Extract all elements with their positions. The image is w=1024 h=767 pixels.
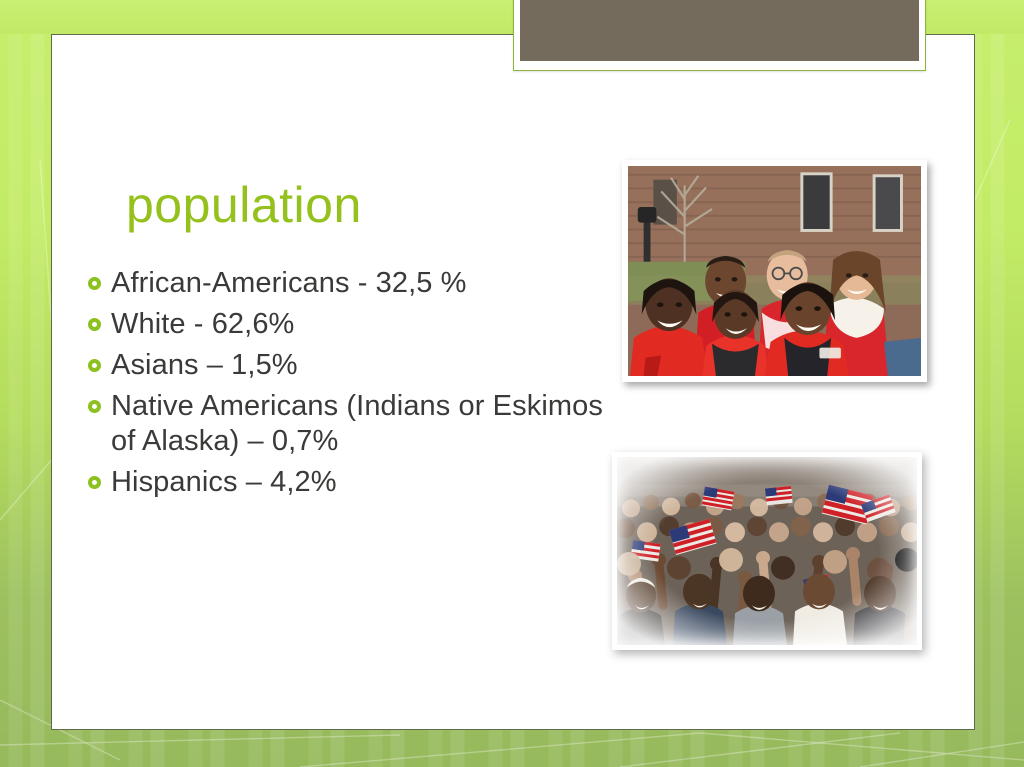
list-item: Native Americans (Indians or Eskimos of … bbox=[88, 389, 608, 459]
header-plaque-fill bbox=[520, 0, 919, 61]
ring-bullet-icon bbox=[88, 277, 101, 290]
bullet-text: White - 62,6% bbox=[111, 307, 608, 342]
students-group-photo-canvas bbox=[628, 166, 921, 376]
students-group-photo bbox=[622, 160, 927, 382]
bullet-text: African-Americans - 32,5 % bbox=[111, 266, 608, 301]
slide-title: population bbox=[126, 176, 586, 234]
presentation-slide: population African-Americans - 32,5 % Wh… bbox=[0, 0, 1024, 767]
crowd-with-flags-photo bbox=[612, 452, 922, 650]
list-item: African-Americans - 32,5 % bbox=[88, 266, 608, 301]
list-item: Hispanics – 4,2% bbox=[88, 465, 608, 500]
crowd-with-flags-photo-canvas bbox=[617, 457, 917, 645]
ring-bullet-icon bbox=[88, 359, 101, 372]
ring-bullet-icon bbox=[88, 318, 101, 331]
list-item: White - 62,6% bbox=[88, 307, 608, 342]
bullet-text: Asians – 1,5% bbox=[111, 348, 608, 383]
ring-bullet-icon bbox=[88, 400, 101, 413]
bullet-text: Native Americans (Indians or Eskimos of … bbox=[111, 389, 608, 459]
bullet-text: Hispanics – 4,2% bbox=[111, 465, 608, 500]
bullet-list: African-Americans - 32,5 % White - 62,6%… bbox=[88, 266, 608, 506]
list-item: Asians – 1,5% bbox=[88, 348, 608, 383]
header-plaque bbox=[513, 0, 926, 71]
ring-bullet-icon bbox=[88, 476, 101, 489]
